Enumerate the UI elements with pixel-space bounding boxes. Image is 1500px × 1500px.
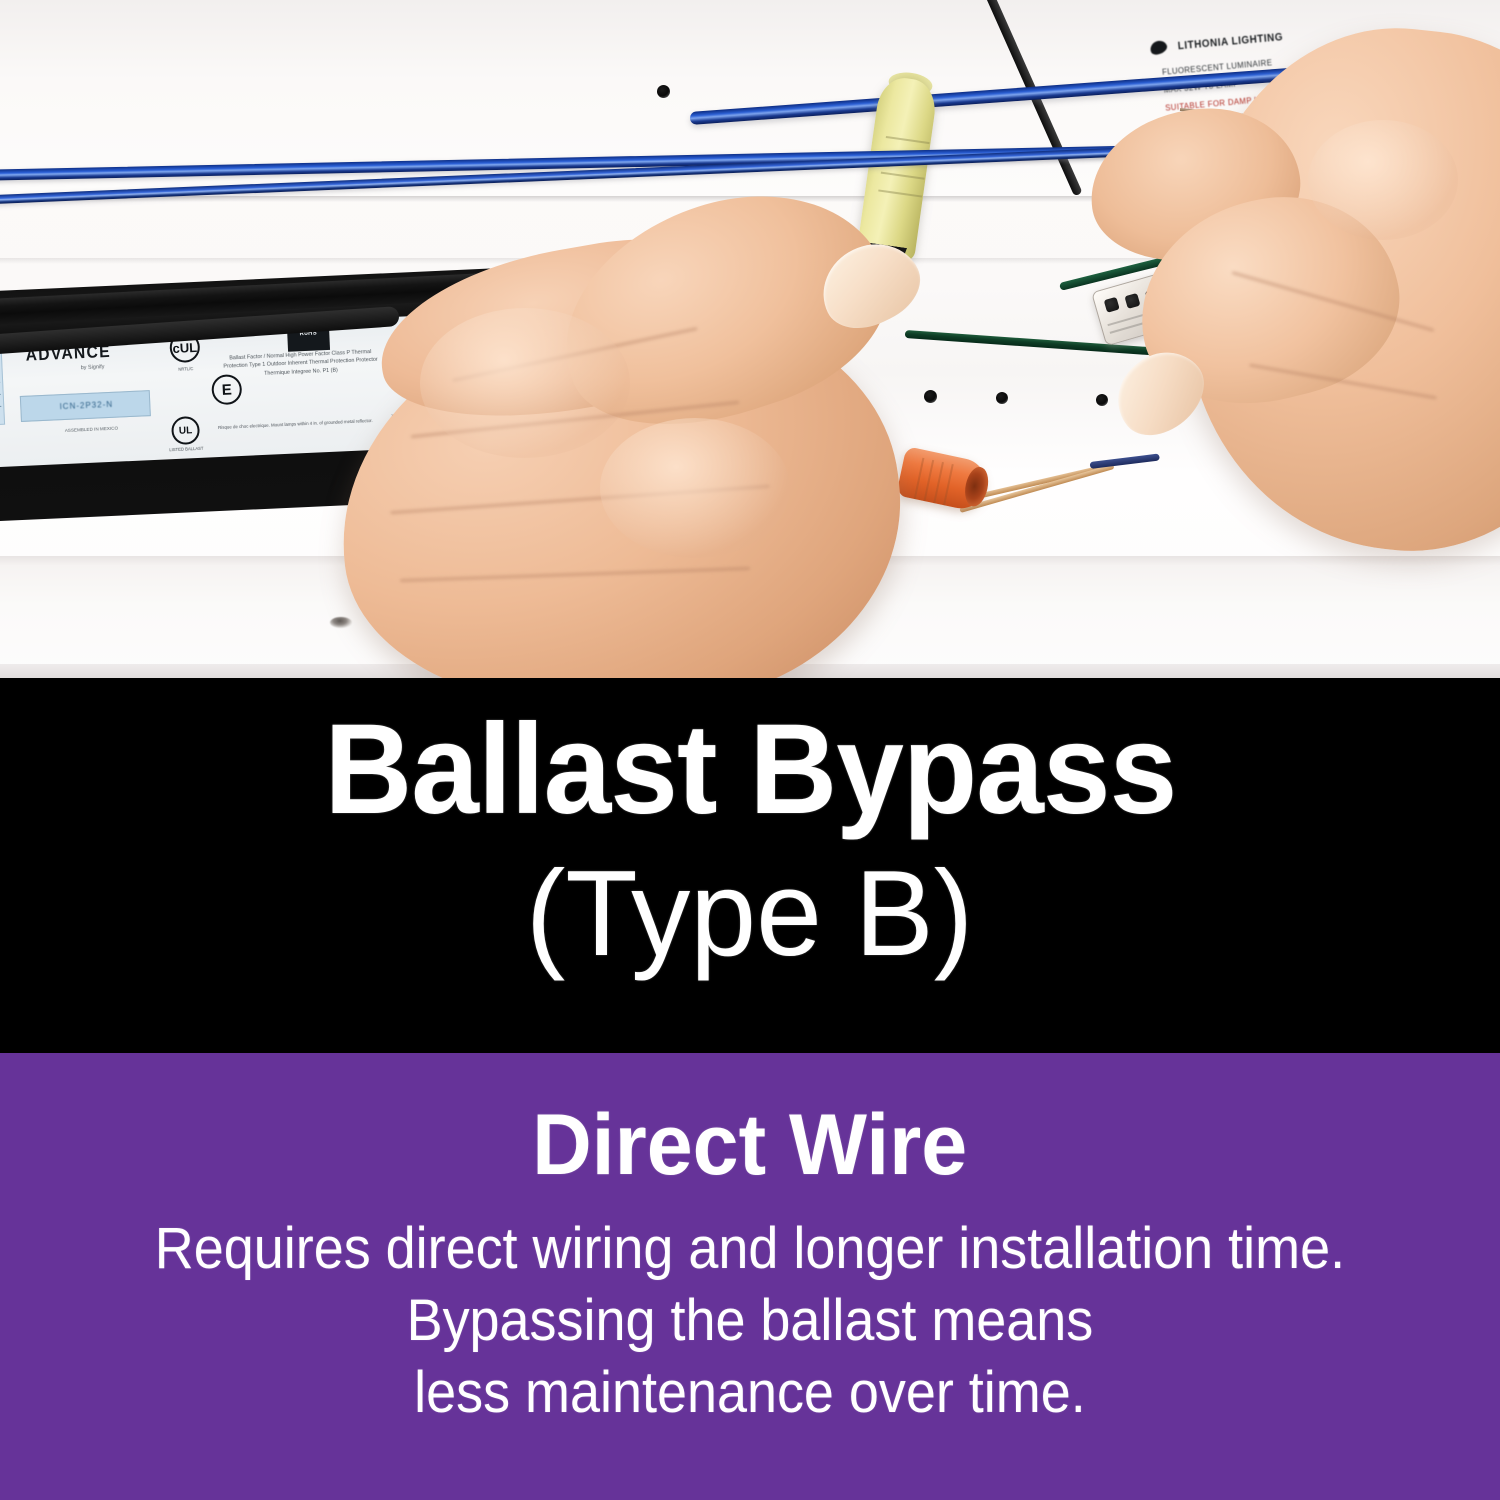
cul-mark-text: cUL bbox=[172, 339, 197, 355]
callout-heading: Direct Wire bbox=[532, 1099, 967, 1191]
ul-mark-caption: LISTED BALLAST bbox=[156, 445, 216, 453]
ul-mark-text: UL bbox=[179, 425, 193, 437]
ballast-model-box: ICN-2P32-N bbox=[20, 390, 151, 422]
page-title: Ballast Bypass bbox=[324, 704, 1176, 836]
cul-mark-caption: NRTL/C bbox=[156, 365, 216, 373]
page-subtitle: (Type B) bbox=[526, 850, 973, 976]
ballast-model-number: ICN-2P32-N bbox=[21, 398, 151, 413]
ballast-bypass-photo: ADVANCE by Signify ICN-2P32-N ASSEMBLED … bbox=[0, 0, 1500, 678]
ballast-lamp-table bbox=[0, 345, 5, 428]
ballast-origin-text: ASSEMBLED IN MEXICO bbox=[21, 424, 161, 435]
left-hand bbox=[300, 118, 990, 678]
callout-panel: Direct Wire Requires direct wiring and l… bbox=[0, 1053, 1500, 1500]
infographic-card: ADVANCE by Signify ICN-2P32-N ASSEMBLED … bbox=[0, 0, 1500, 1500]
callout-body-line: Bypassing the ballast means bbox=[155, 1285, 1345, 1357]
callout-body: Requires direct wiring and longer instal… bbox=[155, 1213, 1345, 1429]
right-hand bbox=[1078, 0, 1500, 590]
fixture-knockout-hole bbox=[657, 85, 670, 98]
title-band: Ballast Bypass (Type B) bbox=[0, 678, 1500, 1053]
callout-body-line: less maintenance over time. bbox=[155, 1357, 1345, 1429]
fixture-knockout-hole bbox=[996, 392, 1008, 404]
callout-body-line: Requires direct wiring and longer instal… bbox=[155, 1213, 1345, 1285]
e-mark-text: E bbox=[221, 381, 232, 398]
ul-certification-icon: UL bbox=[171, 416, 200, 445]
